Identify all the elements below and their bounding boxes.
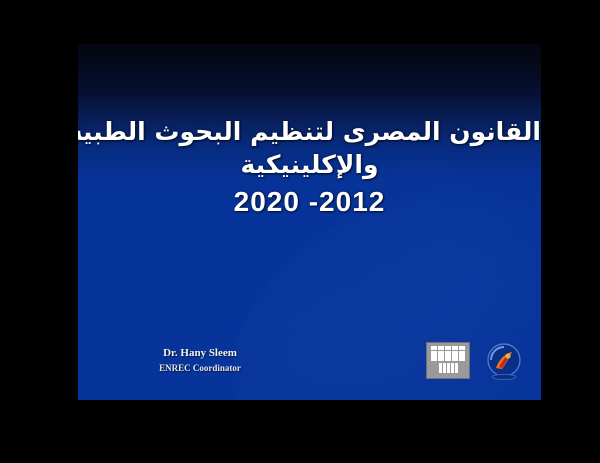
presenter-credit: Dr. Hany Sleem ENREC Coordinator (100, 346, 300, 375)
logo-group (426, 340, 536, 388)
enrec-block-logo-icon (426, 342, 470, 379)
screenshot-canvas: القانون المصرى لتنظيم البحوث الطبية والإ… (0, 0, 600, 463)
slide-title-years: 2020 -2012 (78, 184, 541, 220)
slide-title-block: القانون المصرى لتنظيم البحوث الطبية والإ… (78, 116, 541, 220)
slide-title-line-2: والإكلينيكية (78, 149, 541, 182)
presenter-role: ENREC Coordinator (100, 361, 300, 375)
presentation-slide: القانون المصرى لتنظيم البحوث الطبية والإ… (78, 44, 541, 400)
circular-emblem-logo-icon (482, 340, 526, 384)
slide-title-line-1: القانون المصرى لتنظيم البحوث الطبية (78, 116, 541, 149)
presenter-name: Dr. Hany Sleem (100, 346, 300, 361)
